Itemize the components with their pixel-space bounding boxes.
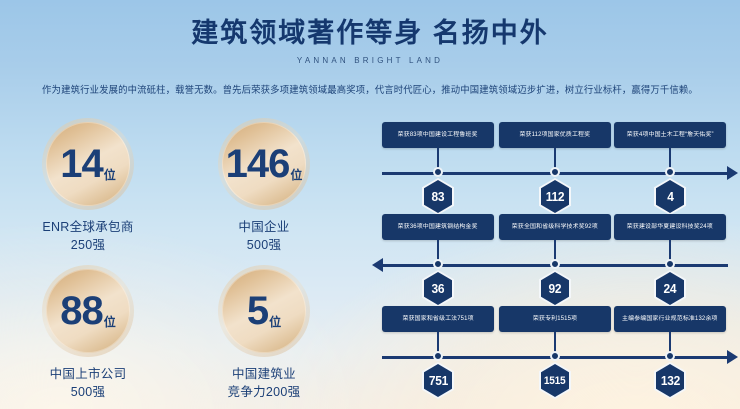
coin-face: 146 位 bbox=[222, 122, 306, 206]
stat-coin: 14 位 bbox=[42, 118, 134, 210]
node-badge-value: 24 bbox=[664, 281, 677, 296]
node-label: 荣获建设部华夏建设科技奖24项 bbox=[627, 223, 713, 230]
arrow-right-icon bbox=[727, 350, 738, 364]
timeline-row: 荣获83项中国建设工程鲁班奖 83 荣获112项国家优质工程奖 bbox=[370, 122, 740, 214]
page-root: 建筑领域著作等身 名扬中外 YANNAN BRIGHT LAND 作为建筑行业发… bbox=[0, 0, 740, 409]
timeline-node[interactable]: 荣获112项国家优质工程奖 112 bbox=[499, 122, 611, 148]
node-dot-icon bbox=[550, 351, 560, 361]
stat-label: 中国建筑业 竞争力200强 bbox=[176, 365, 352, 401]
node-badge-value: 92 bbox=[549, 281, 562, 296]
node-hex-badge: 36 bbox=[422, 270, 454, 307]
stat-label-line1: 中国建筑业 bbox=[176, 365, 352, 383]
stat-label-line2: 250强 bbox=[0, 236, 176, 254]
stats-grid: 14 位 ENR全球承包商 250强 146 位 bbox=[0, 118, 352, 409]
node-hex-badge: 751 bbox=[422, 362, 454, 399]
node-badge-value: 132 bbox=[660, 373, 679, 388]
node-label: 荣获36项中国建筑钢结构金奖 bbox=[398, 223, 478, 230]
stat-label-line1: 中国上市公司 bbox=[0, 365, 176, 383]
node-badge-value: 1515 bbox=[544, 375, 565, 387]
node-label: 主编参编国家行业规范标准132余项 bbox=[622, 315, 718, 322]
stat-unit: 位 bbox=[104, 316, 116, 328]
stat-label: ENR全球承包商 250强 bbox=[0, 218, 176, 254]
page-title: 建筑领域著作等身 名扬中外 bbox=[0, 18, 740, 49]
timeline-node[interactable]: 荣获建设部华夏建设科技奖24项 24 bbox=[614, 214, 726, 240]
arrow-left-icon bbox=[372, 258, 383, 272]
timeline-row: 荣获国家和省级工法751项 751 荣获专利1515项 bbox=[370, 306, 740, 398]
stat-label-line2: 500强 bbox=[0, 383, 176, 401]
timeline-node[interactable]: 荣获专利1515项 1515 bbox=[499, 306, 611, 332]
timeline-node[interactable]: 荣获36项中国建筑钢结构金奖 36 bbox=[382, 214, 494, 240]
page-header: 建筑领域著作等身 名扬中外 YANNAN BRIGHT LAND 作为建筑行业发… bbox=[0, 0, 740, 96]
timeline-node[interactable]: 荣获4项中国土木工程“詹天佑奖” 4 bbox=[614, 122, 726, 148]
node-dot-icon bbox=[665, 167, 675, 177]
stat-number-value: 88 bbox=[60, 291, 103, 331]
node-hex-badge: 1515 bbox=[539, 362, 571, 399]
node-hex-badge: 112 bbox=[539, 178, 571, 215]
stat-number-value: 5 bbox=[247, 291, 268, 331]
node-badge-value: 112 bbox=[546, 189, 564, 204]
node-hex-badge: 132 bbox=[654, 362, 686, 399]
stat-number-value: 146 bbox=[226, 144, 290, 184]
awards-timeline: 荣获83项中国建设工程鲁班奖 83 荣获112项国家优质工程奖 bbox=[370, 122, 740, 402]
node-dot-icon bbox=[433, 259, 443, 269]
node-card: 荣获36项中国建筑钢结构金奖 bbox=[382, 214, 494, 240]
coin-face: 5 位 bbox=[222, 269, 306, 353]
stat-coin: 88 位 bbox=[42, 265, 134, 357]
stat-label: 中国上市公司 500强 bbox=[0, 365, 176, 401]
stat-card: 14 位 ENR全球承包商 250强 bbox=[0, 118, 176, 254]
node-dot-icon bbox=[433, 351, 443, 361]
node-card: 荣获专利1515项 bbox=[499, 306, 611, 332]
node-label: 荣获国家和省级工法751项 bbox=[402, 315, 473, 322]
coin-face: 88 位 bbox=[46, 269, 130, 353]
stat-card: 5 位 中国建筑业 竞争力200强 bbox=[176, 265, 352, 401]
stat-number-value: 14 bbox=[60, 144, 103, 184]
node-badge-value: 83 bbox=[432, 189, 445, 204]
timeline-node[interactable]: 荣获83项中国建设工程鲁班奖 83 bbox=[382, 122, 494, 148]
node-card: 荣获国家和省级工法751项 bbox=[382, 306, 494, 332]
stat-unit: 位 bbox=[269, 316, 281, 328]
node-dot-icon bbox=[665, 351, 675, 361]
node-badge-value: 4 bbox=[667, 189, 673, 204]
timeline-node[interactable]: 荣获国家和省级工法751项 751 bbox=[382, 306, 494, 332]
node-label: 荣获112项国家优质工程奖 bbox=[520, 131, 591, 138]
node-dot-icon bbox=[433, 167, 443, 177]
stat-coin: 5 位 bbox=[218, 265, 310, 357]
stat-label: 中国企业 500强 bbox=[176, 218, 352, 254]
node-label: 荣获全国和省级科学技术奖92项 bbox=[512, 223, 598, 230]
page-description: 作为建筑行业发展的中流砥柱，载誉无数。曾先后荣获多项建筑领域最高奖项，代言时代匠… bbox=[6, 82, 735, 96]
timeline-node[interactable]: 荣获全国和省级科学技术奖92项 92 bbox=[499, 214, 611, 240]
node-hex-badge: 24 bbox=[654, 270, 686, 307]
node-dot-icon bbox=[665, 259, 675, 269]
node-card: 荣获全国和省级科学技术奖92项 bbox=[499, 214, 611, 240]
coin-face: 14 位 bbox=[46, 122, 130, 206]
stat-unit: 位 bbox=[104, 169, 116, 181]
node-badge-value: 751 bbox=[428, 373, 447, 388]
node-card: 荣获建设部华夏建设科技奖24项 bbox=[614, 214, 726, 240]
node-card: 主编参编国家行业规范标准132余项 bbox=[614, 306, 726, 332]
node-hex-badge: 83 bbox=[422, 178, 454, 215]
node-hex-badge: 4 bbox=[654, 178, 686, 215]
stat-label-line1: ENR全球承包商 bbox=[0, 218, 176, 236]
brand-subtitle-en: YANNAN BRIGHT LAND bbox=[0, 56, 740, 65]
node-label: 荣获83项中国建设工程鲁班奖 bbox=[398, 131, 478, 138]
stat-card: 146 位 中国企业 500强 bbox=[176, 118, 352, 254]
node-hex-badge: 92 bbox=[539, 270, 571, 307]
stat-label-line2: 竞争力200强 bbox=[176, 383, 352, 401]
node-dot-icon bbox=[550, 259, 560, 269]
node-card: 荣获4项中国土木工程“詹天佑奖” bbox=[614, 122, 726, 148]
stat-card: 88 位 中国上市公司 500强 bbox=[0, 265, 176, 401]
stat-number: 14 位 bbox=[60, 144, 116, 184]
node-badge-value: 36 bbox=[432, 281, 445, 296]
node-card: 荣获112项国家优质工程奖 bbox=[499, 122, 611, 148]
timeline-node[interactable]: 主编参编国家行业规范标准132余项 132 bbox=[614, 306, 726, 332]
stat-unit: 位 bbox=[290, 169, 302, 181]
timeline-row: 荣获36项中国建筑钢结构金奖 36 荣获全国和省级科学技术奖92项 bbox=[370, 214, 740, 306]
stat-label-line1: 中国企业 bbox=[176, 218, 352, 236]
arrow-right-icon bbox=[727, 166, 738, 180]
node-dot-icon bbox=[550, 167, 560, 177]
node-label: 荣获4项中国土木工程“詹天佑奖” bbox=[627, 131, 714, 138]
stat-number: 146 位 bbox=[226, 144, 303, 184]
stat-number: 5 位 bbox=[247, 291, 281, 331]
stat-coin: 146 位 bbox=[218, 118, 310, 210]
stat-label-line2: 500强 bbox=[176, 236, 352, 254]
node-card: 荣获83项中国建设工程鲁班奖 bbox=[382, 122, 494, 148]
node-label: 荣获专利1515项 bbox=[533, 315, 577, 322]
stat-number: 88 位 bbox=[60, 291, 116, 331]
